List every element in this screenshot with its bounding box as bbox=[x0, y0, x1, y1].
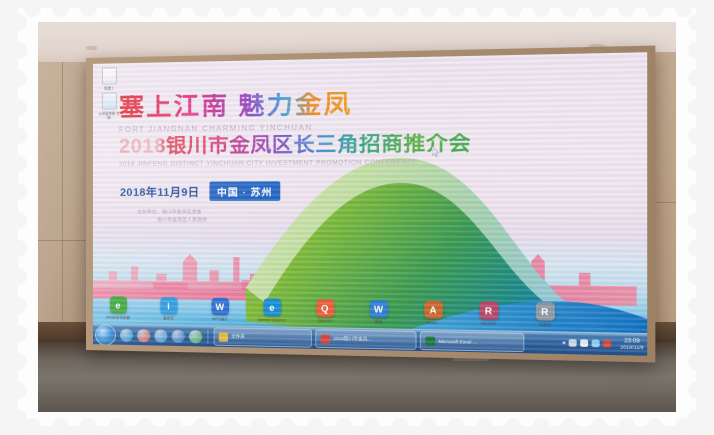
perforation-notch bbox=[590, 0, 607, 17]
perforation-notch bbox=[476, 0, 493, 17]
perforation-notch bbox=[688, 70, 705, 87]
perforation-notch bbox=[448, 0, 465, 17]
desktop-icon-glyph: A bbox=[424, 301, 443, 319]
slide-subtitle-cn: 2018银川市金凤区长三角招商推介会 bbox=[119, 133, 471, 158]
desktop-icon[interactable]: R回收站 bbox=[526, 302, 565, 328]
desktop-icon-glyph: e bbox=[263, 299, 281, 317]
explorer-icon[interactable] bbox=[172, 329, 185, 342]
perforation-notch bbox=[675, 0, 692, 17]
perforation-notch bbox=[278, 0, 295, 17]
perforation-notch bbox=[335, 418, 352, 435]
perforation-notch bbox=[10, 325, 27, 342]
desktop-icon-label: QQ2020 bbox=[307, 319, 343, 324]
perforation-notch bbox=[561, 418, 578, 435]
perforation-notch bbox=[646, 418, 663, 435]
desktop-file-icon-2[interactable]: 公司宣传册 文档 bbox=[97, 92, 121, 120]
desktop-file-icon-1[interactable]: 新建 1 bbox=[97, 67, 121, 90]
perforation-notch bbox=[363, 0, 380, 17]
desktop-icon[interactable]: AAdobe... bbox=[414, 301, 451, 326]
perforation-notch bbox=[10, 70, 27, 87]
network-icon[interactable] bbox=[591, 340, 599, 348]
conference-photo: 塞上江南 魅力金凤 FORT JIANGNAN CHARMING YINCHUA… bbox=[38, 22, 676, 412]
slide-title-block: 塞上江南 魅力金凤 FORT JIANGNAN CHARMING YINCHUA… bbox=[119, 90, 471, 168]
perforation-notch bbox=[688, 240, 705, 257]
taskbar-task[interactable]: 2018银川市金凤... bbox=[315, 329, 416, 350]
perforation-notch bbox=[688, 410, 705, 427]
start-button[interactable] bbox=[95, 324, 116, 345]
taskbar-task-label: Microsoft Excel ... bbox=[439, 338, 477, 344]
organizer-text: 主办单位：银川市金凤区党委 银川市金凤区人民政府 bbox=[137, 208, 207, 225]
perforation-notch bbox=[533, 0, 550, 17]
perforation-notch bbox=[10, 268, 27, 285]
taskbar-task-icon bbox=[219, 332, 228, 341]
taskbar-task[interactable]: 文件夹 bbox=[214, 327, 312, 347]
perforation-notch bbox=[688, 99, 705, 116]
perforation-notch bbox=[10, 410, 27, 427]
desktop-icon[interactable]: e360安全浏览器 bbox=[101, 297, 135, 321]
perforation-notch bbox=[10, 382, 27, 399]
desktop-icon[interactable]: eInternet Explorer bbox=[254, 299, 290, 324]
perforation-notch bbox=[109, 0, 126, 17]
desktop-icon-glyph: i bbox=[160, 297, 177, 314]
perforation-notch bbox=[590, 418, 607, 435]
qq-browser-icon[interactable] bbox=[189, 329, 202, 342]
stamp-frame: 塞上江南 魅力金凤 FORT JIANGNAN CHARMING YINCHUA… bbox=[0, 0, 714, 434]
perforation-notch bbox=[222, 418, 239, 435]
perforation-notch bbox=[688, 297, 705, 314]
perforation-notch bbox=[688, 183, 705, 200]
perforation-notch bbox=[688, 325, 705, 342]
taskbar-task-icon bbox=[425, 336, 435, 346]
perforation-notch bbox=[392, 418, 409, 435]
slide-meta-row: 2018年11月9日 中国 · 苏州 bbox=[120, 181, 280, 201]
perforation-notch bbox=[505, 418, 522, 435]
perforation-notch bbox=[448, 418, 465, 435]
perforation-notch bbox=[193, 418, 210, 435]
taskbar-task-label: 2018银川市金凤... bbox=[333, 336, 371, 343]
sound-icon[interactable] bbox=[580, 340, 588, 348]
perforation-notch bbox=[193, 0, 210, 17]
event-location-badge: 中国 · 苏州 bbox=[210, 181, 280, 201]
taskbar-task-icon bbox=[320, 334, 330, 344]
taskbar-clock[interactable]: 23:09 2018/11/9 bbox=[615, 338, 644, 351]
desktop-icon-label: 微信 bbox=[360, 320, 397, 326]
desktop-icon-glyph: Q bbox=[316, 300, 334, 318]
tray-expand-icon[interactable]: ◂ bbox=[562, 340, 565, 348]
taskbar-task-label: 文件夹 bbox=[231, 334, 245, 340]
slide-title-cn: 塞上江南 魅力金凤 bbox=[119, 90, 471, 121]
desktop-icon-glyph: e bbox=[109, 297, 126, 314]
perforation-notch bbox=[52, 418, 69, 435]
perforation-notch bbox=[307, 418, 324, 435]
taskbar-task[interactable]: Microsoft Excel ... bbox=[420, 331, 525, 352]
perforation-notch bbox=[24, 0, 41, 17]
perforation-notch bbox=[52, 0, 69, 17]
perforation-notch bbox=[10, 127, 27, 144]
desktop-icon-label: 回收站 bbox=[526, 323, 565, 329]
ie-icon[interactable] bbox=[120, 328, 133, 341]
perforation-notch bbox=[688, 155, 705, 172]
perforation-notch bbox=[688, 127, 705, 144]
perforation-notch bbox=[420, 418, 437, 435]
perforation-notch bbox=[646, 0, 663, 17]
perforation-notch bbox=[307, 0, 324, 17]
desktop-icon-label: 爱奇艺 bbox=[151, 316, 186, 321]
perforation-notch bbox=[10, 240, 27, 257]
event-date: 2018年11月9日 bbox=[120, 183, 199, 199]
perforation-notch bbox=[222, 0, 239, 17]
perforation-notch bbox=[505, 0, 522, 17]
desktop-icon[interactable]: RWinRAR bbox=[470, 302, 508, 328]
desktop-icon[interactable]: WWPS演示 bbox=[202, 298, 237, 323]
desktop-icon[interactable]: W微信 bbox=[360, 300, 397, 325]
perforation-notch bbox=[688, 42, 705, 59]
perforation-notch bbox=[335, 0, 352, 17]
media-player-icon[interactable] bbox=[137, 328, 150, 341]
desktop-icon-label: WinRAR bbox=[470, 322, 508, 328]
organizer-line-2: 银川市金凤区人民政府 bbox=[157, 217, 207, 226]
desktop-icon-label: WPS演示 bbox=[202, 317, 237, 322]
perforation-notch bbox=[250, 0, 267, 17]
desktop-icon[interactable]: QQQ2020 bbox=[307, 299, 343, 324]
perforation-notch bbox=[10, 183, 27, 200]
perforation-notch bbox=[10, 14, 27, 31]
quick-launch-bar bbox=[120, 328, 202, 343]
desktop-icon-label: 360安全浏览器 bbox=[101, 316, 135, 321]
perforation-notch bbox=[109, 418, 126, 435]
desktop-icon-glyph: R bbox=[479, 302, 498, 320]
perforation-notch bbox=[10, 297, 27, 314]
desktop-icon[interactable]: i爱奇艺 bbox=[151, 297, 186, 322]
perforation-notch bbox=[165, 0, 182, 17]
desktop-icon-label: Internet Explorer bbox=[254, 318, 290, 323]
desktop-icon-glyph: W bbox=[369, 300, 387, 318]
perforation-notch bbox=[618, 418, 635, 435]
perforation-notch bbox=[688, 382, 705, 399]
usb-icon[interactable] bbox=[569, 340, 577, 348]
perforation-notch bbox=[392, 0, 409, 17]
perforation-notch bbox=[165, 418, 182, 435]
perforation-notch bbox=[618, 0, 635, 17]
desktop-file-icon-1-label: 新建 1 bbox=[97, 86, 121, 91]
perforation-notch bbox=[80, 418, 97, 435]
led-screen-bezel: 塞上江南 魅力金凤 FORT JIANGNAN CHARMING YINCHUA… bbox=[86, 46, 655, 363]
perforation-notch bbox=[137, 418, 154, 435]
perforation-notch bbox=[137, 0, 154, 17]
perforation-notch bbox=[10, 155, 27, 172]
desktop-icon-label: Adobe... bbox=[414, 321, 451, 327]
perforation-notch bbox=[688, 268, 705, 285]
clock-date: 2018/11/9 bbox=[620, 345, 643, 351]
desktop-icon-glyph: W bbox=[211, 298, 229, 316]
perforation-notch bbox=[363, 418, 380, 435]
perforation-notch bbox=[476, 418, 493, 435]
mouse-pointer-icon bbox=[432, 146, 440, 157]
taskbar-task-list: 文件夹2018银川市金凤...Microsoft Excel ... bbox=[214, 327, 525, 352]
perforation-notch bbox=[688, 212, 705, 229]
messenger-icon[interactable] bbox=[154, 329, 167, 342]
perforation-notch bbox=[10, 353, 27, 370]
led-screen[interactable]: 塞上江南 魅力金凤 FORT JIANGNAN CHARMING YINCHUA… bbox=[93, 52, 647, 356]
perforation-notch bbox=[688, 14, 705, 31]
desktop-file-icon-2-label: 公司宣传册 文档 bbox=[97, 111, 121, 120]
desktop-icon-glyph: R bbox=[535, 303, 554, 321]
perforation-notch bbox=[561, 0, 578, 17]
organizer-line-1: 主办单位：银川市金凤区党委 bbox=[137, 209, 202, 214]
perforation-notch bbox=[250, 418, 267, 435]
perforation-notch bbox=[420, 0, 437, 17]
perforation-notch bbox=[688, 353, 705, 370]
system-tray: ◂ 23:09 2018/11/9 bbox=[562, 337, 648, 351]
perforation-notch bbox=[10, 99, 27, 116]
perforation-notch bbox=[10, 42, 27, 59]
shield-icon[interactable] bbox=[603, 340, 611, 348]
perforation-notch bbox=[80, 0, 97, 17]
perforation-notch bbox=[278, 418, 295, 435]
perforation-notch bbox=[10, 212, 27, 229]
perforation-notch bbox=[533, 418, 550, 435]
